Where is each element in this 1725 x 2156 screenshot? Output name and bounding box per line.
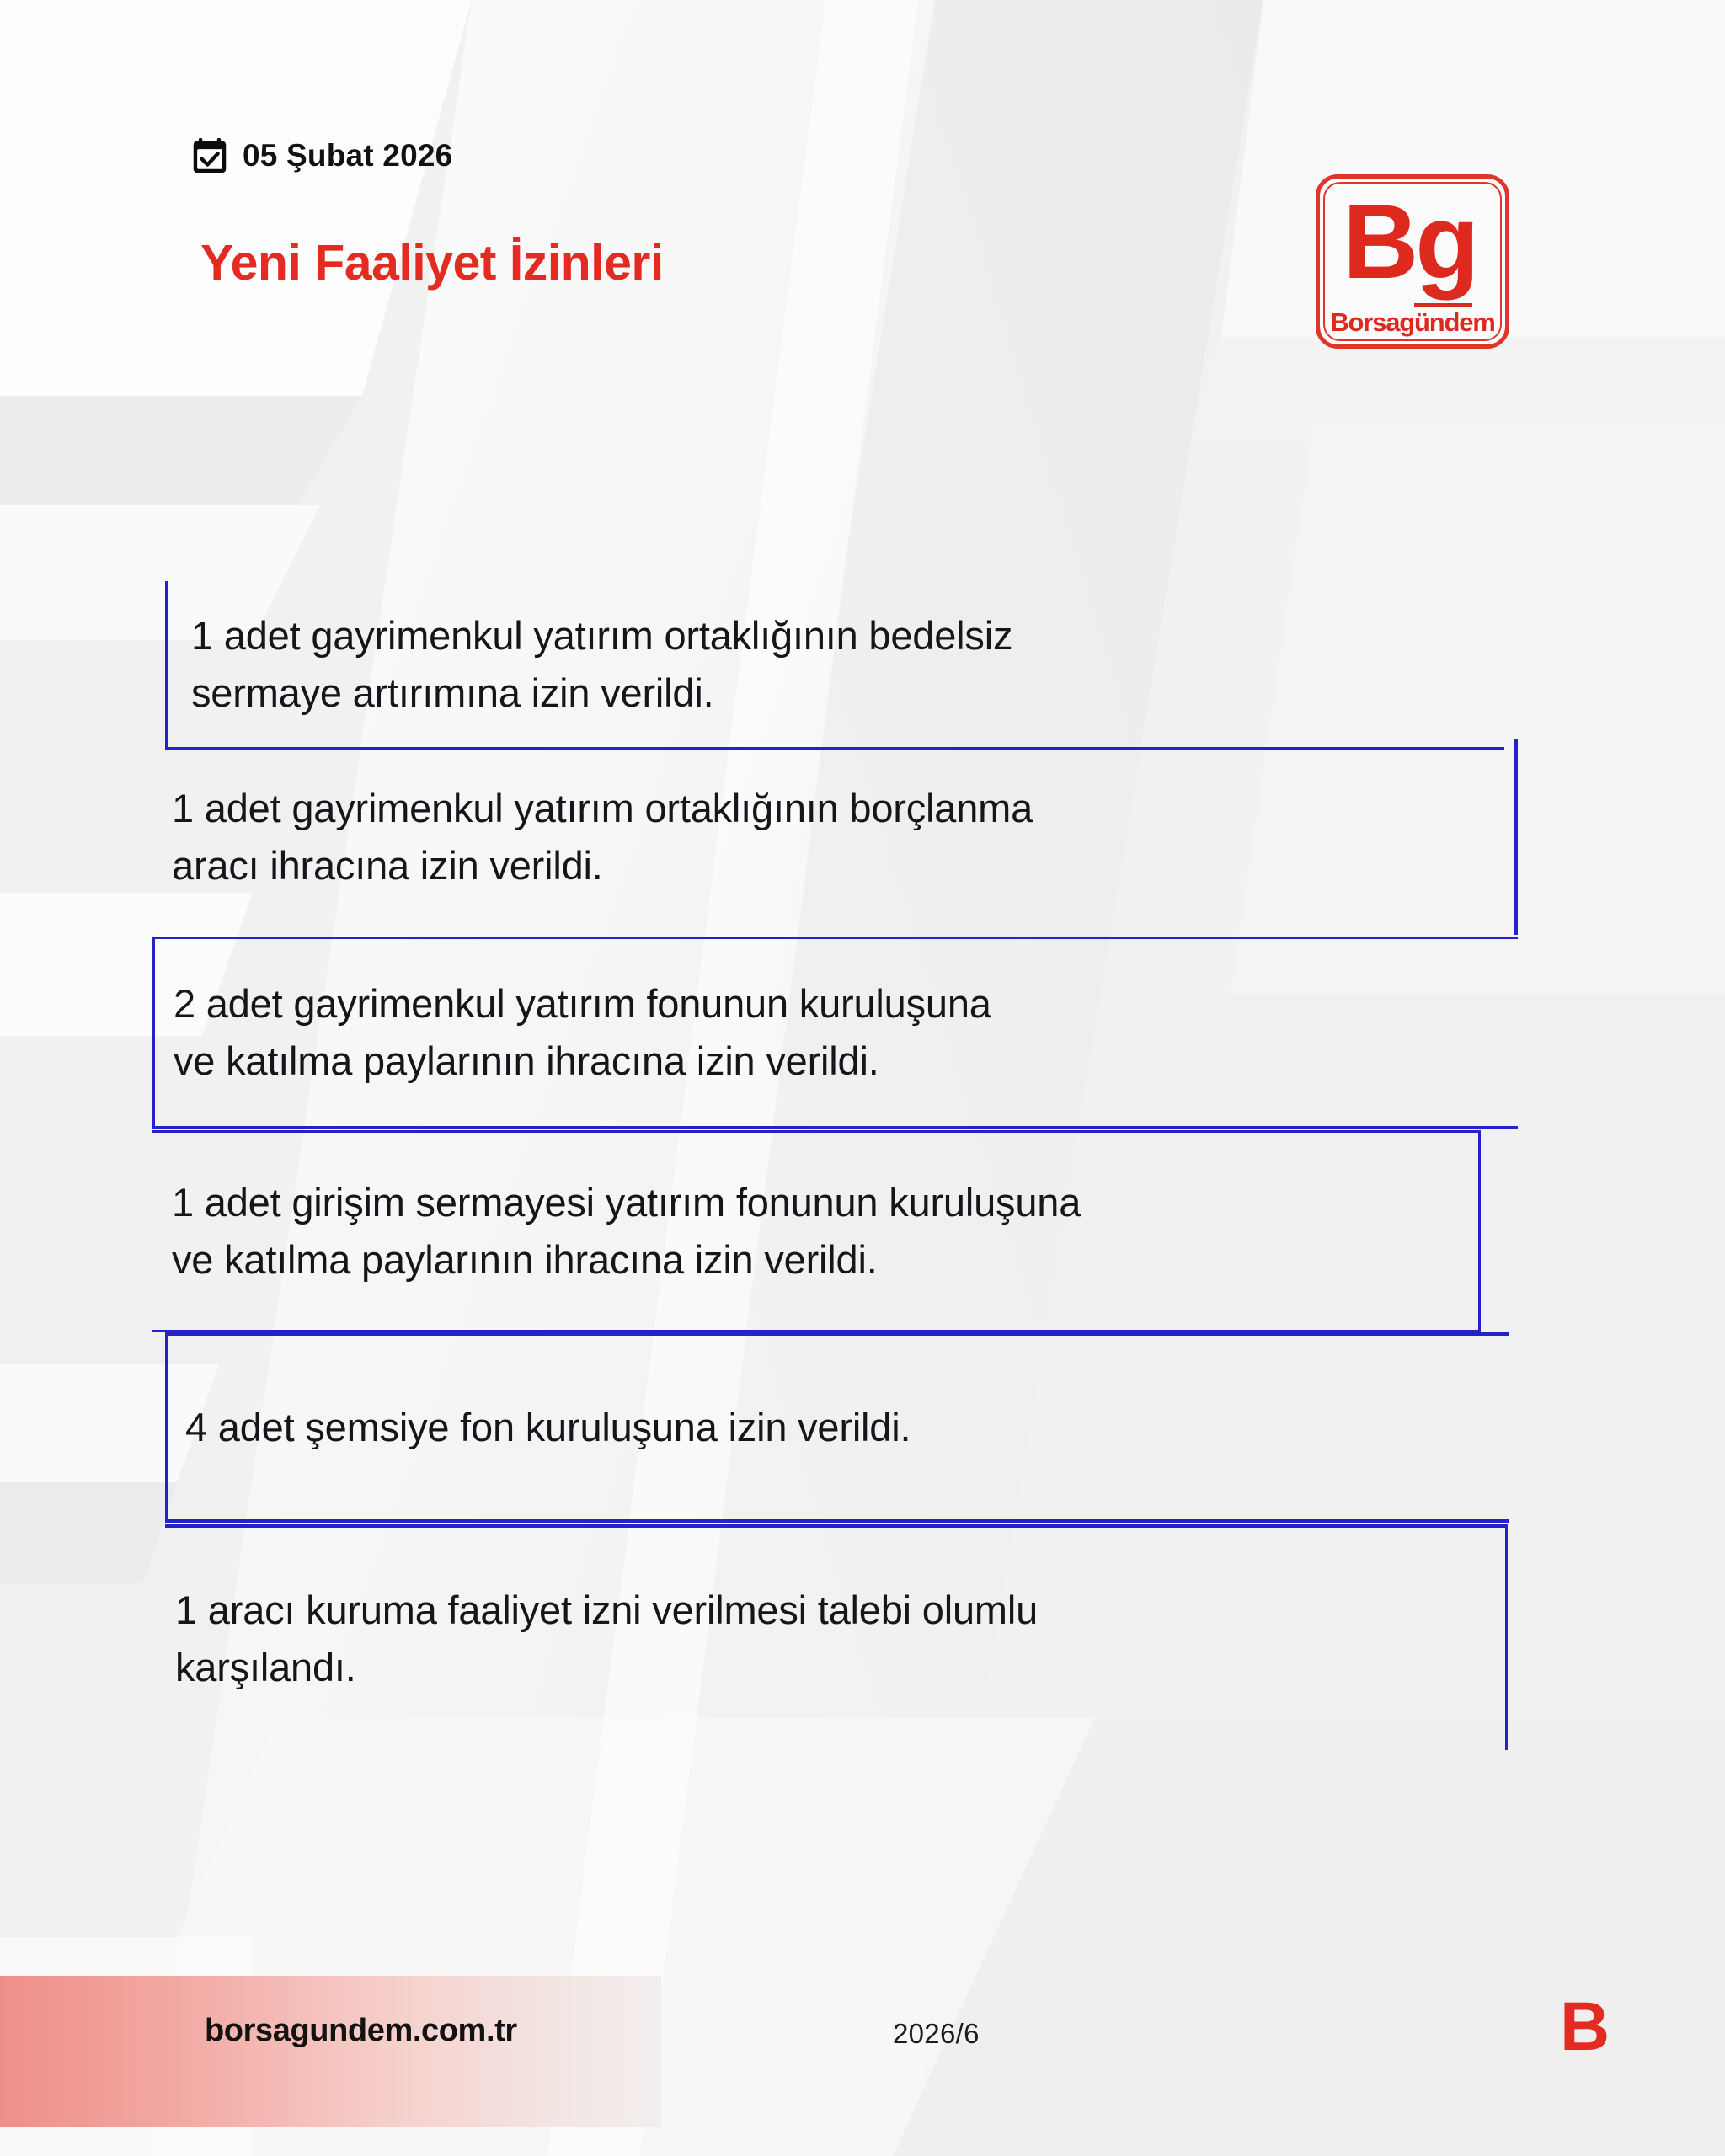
list-item: 1 aracı kuruma faaliyet izni verilmesi t… — [165, 1524, 1508, 1750]
list-item-text: 4 adet şemsiye fon kuruluşuna izin veril… — [168, 1399, 911, 1456]
list-item-text: 1 aracı kuruma faaliyet izni verilmesi t… — [165, 1582, 1038, 1695]
footer-website-label: borsagundem.com.tr — [205, 2013, 517, 2049]
list-item-text: 1 adet gayrimenkul yatırım ortaklığının … — [165, 780, 1033, 894]
list-item: 1 adet gayrimenkul yatırım ortaklığının … — [165, 581, 1504, 750]
list-item: 1 adet girişim sermayesi yatırım fonunun… — [152, 1130, 1481, 1332]
page-root: 05 Şubat 2026 Yeni Faaliyet İzinleri Bg … — [0, 0, 1725, 2156]
footer-gradient-bar — [0, 1976, 661, 2127]
footer-brand-mark: B — [1560, 1993, 1610, 2062]
list-item-text: 1 adet girişim sermayesi yatırım fonunun… — [152, 1174, 1081, 1288]
permission-list: 1 adet gayrimenkul yatırım ortaklığının … — [0, 0, 1725, 2156]
list-item: 4 adet şemsiye fon kuruluşuna izin veril… — [165, 1332, 1509, 1523]
list-item-text: 2 adet gayrimenkul yatırım fonunun kurul… — [155, 975, 991, 1089]
list-item: 2 adet gayrimenkul yatırım fonunun kurul… — [152, 937, 1518, 1129]
footer-issue-label: 2026/6 — [893, 2018, 980, 2050]
list-item: 1 adet gayrimenkul yatırım ortaklığının … — [165, 739, 1518, 935]
page-footer: borsagundem.com.tr 2026/6 B — [0, 1999, 1725, 2100]
list-item-text: 1 adet gayrimenkul yatırım ortaklığının … — [168, 607, 1012, 721]
